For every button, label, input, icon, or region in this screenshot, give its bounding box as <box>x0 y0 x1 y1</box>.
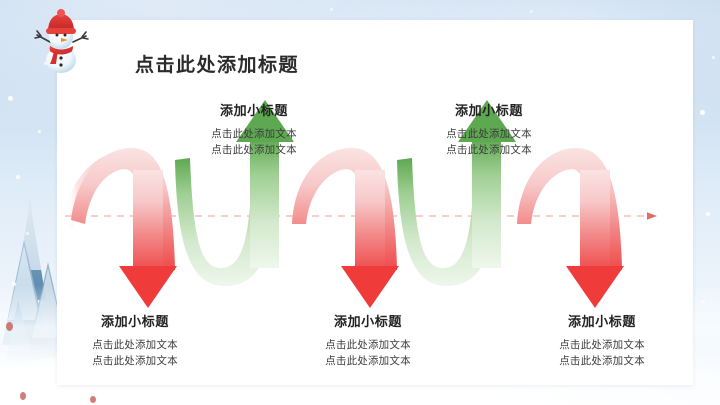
snowflake-dot <box>702 300 705 303</box>
text-block-heading: 添加小标题 <box>40 315 230 329</box>
berry-accent <box>20 392 26 400</box>
text-block-line: 点击此处添加文本 <box>394 127 584 142</box>
berry-accent <box>90 396 96 403</box>
text-block-line: 点击此处添加文本 <box>507 354 697 369</box>
text-block-heading: 添加小标题 <box>273 315 463 329</box>
text-block-bottom-2[interactable]: 添加小标题 点击此处添加文本 点击此处添加文本 <box>273 315 463 369</box>
text-block-bottom-3[interactable]: 添加小标题 点击此处添加文本 点击此处添加文本 <box>507 315 697 369</box>
arrow-down-red-2 <box>292 148 399 308</box>
snowflake-dot <box>530 10 533 13</box>
presentation-slide: 点击此处添加标题 添加小标题 点击此处添加文本 点击此处添加文本 添加小标题 点… <box>0 0 720 405</box>
text-block-line: 点击此处添加文本 <box>40 354 230 369</box>
text-block-top-1[interactable]: 添加小标题 点击此处添加文本 点击此处添加文本 <box>159 104 349 158</box>
text-block-heading: 添加小标题 <box>159 104 349 118</box>
snowflake-dot <box>38 130 41 133</box>
snowflake-dot <box>16 175 20 179</box>
slide-header: 点击此处添加标题 <box>57 20 693 82</box>
content-card: 点击此处添加标题 添加小标题 点击此处添加文本 点击此处添加文本 添加小标题 点… <box>57 20 693 385</box>
text-block-line: 点击此处添加文本 <box>273 338 463 353</box>
arrow-down-red-1 <box>67 148 177 308</box>
snowflake-dot <box>712 56 715 59</box>
page-title: 点击此处添加标题 <box>135 50 299 77</box>
text-block-line: 点击此处添加文本 <box>507 338 697 353</box>
text-block-bottom-1[interactable]: 添加小标题 点击此处添加文本 点击此处添加文本 <box>40 315 230 369</box>
arrowhead-down <box>341 266 399 308</box>
text-block-line: 点击此处添加文本 <box>394 143 584 158</box>
arrowhead-down <box>119 266 177 308</box>
snowflake-dot <box>12 282 16 286</box>
snowflake-dot <box>8 96 13 101</box>
text-block-heading: 添加小标题 <box>507 315 697 329</box>
snowflake-dot <box>26 232 29 235</box>
snowman-icon <box>30 6 92 76</box>
text-block-line: 点击此处添加文本 <box>159 143 349 158</box>
text-block-line: 点击此处添加文本 <box>40 338 230 353</box>
text-block-heading: 添加小标题 <box>394 104 584 118</box>
berry-accent <box>6 322 13 331</box>
arrowhead-down <box>566 266 624 308</box>
arrow-down-red-3 <box>517 148 624 308</box>
snowflake-dot <box>700 110 705 115</box>
snowflake-dot <box>330 8 333 11</box>
text-block-line: 点击此处添加文本 <box>273 354 463 369</box>
snowflake-dot <box>706 212 710 216</box>
text-block-top-2[interactable]: 添加小标题 点击此处添加文本 点击此处添加文本 <box>394 104 584 158</box>
text-block-line: 点击此处添加文本 <box>159 127 349 142</box>
